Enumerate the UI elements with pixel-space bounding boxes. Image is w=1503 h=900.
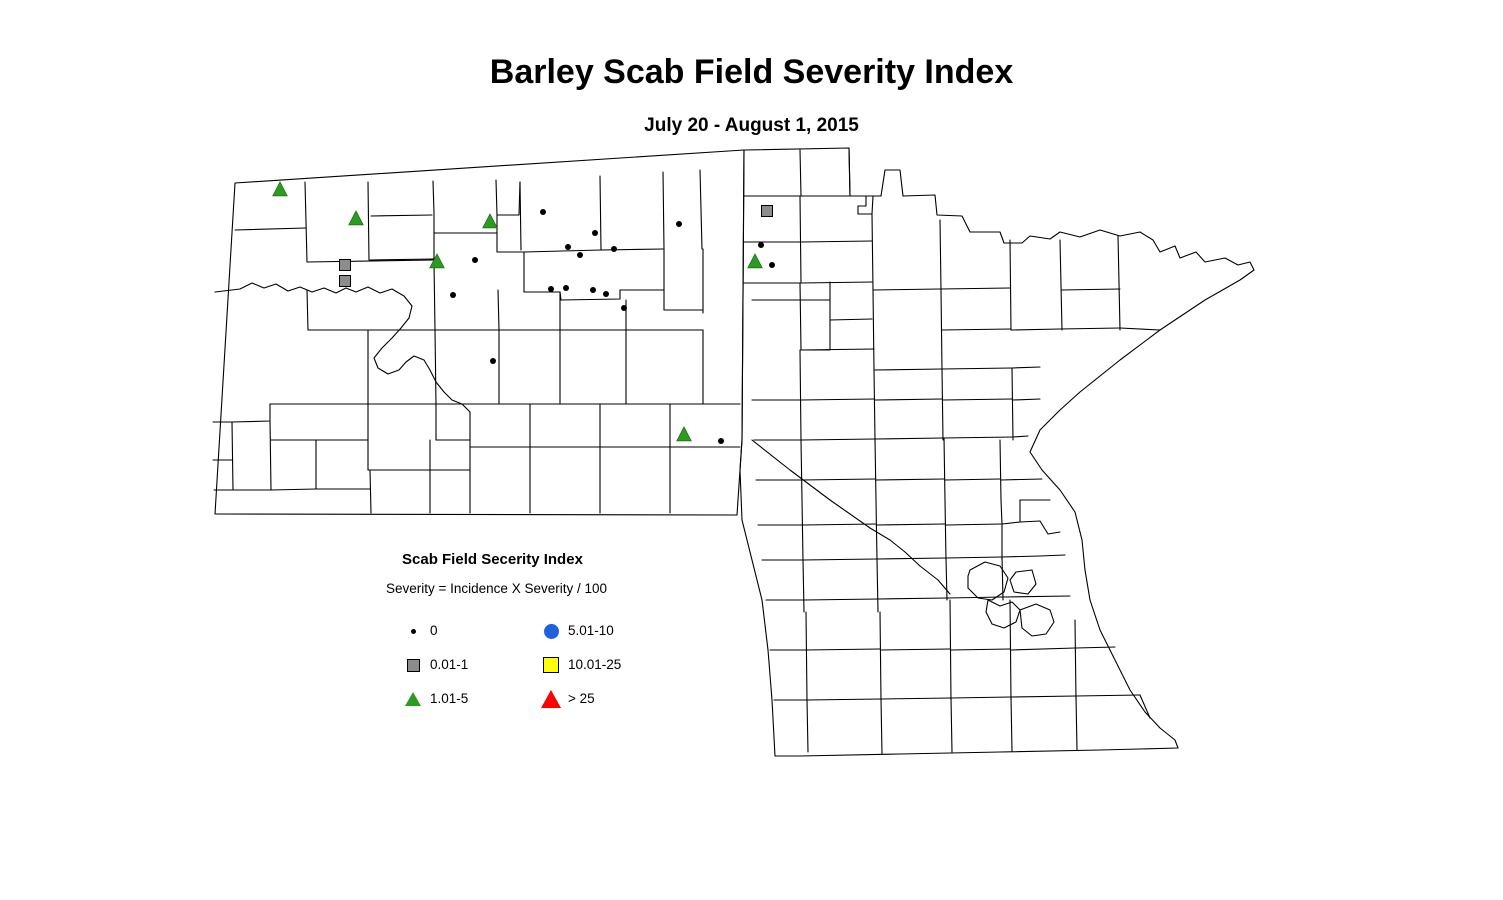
map-data-point[interactable] — [472, 257, 478, 263]
county-line — [1075, 620, 1076, 700]
county-line — [946, 524, 1001, 525]
county-line — [1011, 648, 1075, 650]
map-data-point[interactable] — [273, 182, 288, 196]
county-line — [873, 289, 940, 290]
county-line — [803, 559, 877, 560]
county-line — [804, 599, 878, 600]
county-line — [1000, 440, 1001, 500]
county-line — [433, 181, 434, 213]
county-line — [434, 262, 435, 330]
map-data-point[interactable] — [430, 254, 445, 268]
county-line — [1040, 555, 1065, 556]
legend-item-label: 5.01-10 — [568, 623, 614, 639]
circle-blue-icon — [534, 624, 568, 639]
map-data-point[interactable] — [590, 287, 596, 293]
county-line — [946, 558, 947, 600]
county-line — [1003, 596, 1070, 597]
county-line — [944, 438, 945, 500]
county-line — [1001, 479, 1042, 480]
county-line — [942, 329, 1011, 330]
map-data-point[interactable] — [621, 305, 627, 311]
county-line — [849, 148, 881, 214]
county-line — [801, 300, 872, 320]
map-data-point[interactable] — [483, 214, 498, 228]
data-points-layer — [273, 182, 775, 444]
map-data-point[interactable] — [758, 242, 764, 248]
county-line — [951, 649, 1010, 650]
legend-item-label: 10.01-25 — [568, 657, 621, 673]
county-line — [874, 369, 942, 370]
county-line — [601, 249, 663, 250]
county-line — [801, 282, 872, 283]
choropleth-map — [0, 0, 1503, 900]
county-line — [951, 697, 1011, 698]
map-data-point[interactable] — [577, 252, 583, 258]
map-legend: Scab Field Secerity Index Severity = Inc… — [386, 550, 686, 714]
map-data-point[interactable] — [450, 292, 456, 298]
legend-item-zero[interactable]: 0 — [396, 614, 468, 648]
county-line — [1012, 367, 1040, 368]
map-data-point[interactable] — [769, 262, 775, 268]
map-data-point[interactable] — [748, 254, 763, 268]
state-outline-north-dakota — [215, 150, 744, 515]
county-line — [877, 559, 878, 612]
county-line — [951, 698, 952, 752]
county-line — [496, 180, 520, 215]
square-yellow-icon — [534, 657, 568, 673]
legend-item-label: 0 — [430, 623, 438, 639]
county-line — [1012, 368, 1013, 440]
county-line — [497, 215, 524, 292]
legend-item-1-01-5[interactable]: 1.01-5 — [396, 682, 468, 716]
county-line — [1060, 240, 1062, 330]
county-line — [1118, 236, 1120, 330]
map-data-point[interactable] — [340, 276, 351, 287]
county-line — [235, 228, 306, 230]
county-line — [663, 172, 664, 249]
county-line — [878, 598, 947, 599]
county-line — [802, 479, 875, 480]
legend-title: Scab Field Secerity Index — [402, 550, 686, 570]
county-line — [873, 290, 874, 370]
county-line — [876, 500, 877, 560]
map-data-point[interactable] — [611, 246, 617, 252]
county-line — [1076, 696, 1077, 750]
legend-item-label: > 25 — [568, 691, 595, 707]
map-data-point[interactable] — [540, 209, 546, 215]
map-data-point[interactable] — [349, 211, 364, 225]
legend-item-label: 1.01-5 — [430, 691, 468, 707]
border-diagonal — [752, 440, 950, 594]
legend-item-label: 0.01-1 — [430, 657, 468, 673]
legend-item-0-01-1[interactable]: 0.01-1 — [396, 648, 468, 682]
county-line — [875, 438, 943, 439]
legend-column-right: 5.01-10 10.01-25 > 25 — [534, 614, 621, 716]
legend-item-5-01-10[interactable]: 5.01-10 — [534, 614, 621, 648]
county-line — [371, 215, 432, 216]
county-line — [800, 283, 801, 350]
triangle-green-icon — [396, 692, 430, 706]
county-line — [232, 422, 233, 490]
county-line — [801, 440, 802, 500]
county-line — [271, 489, 316, 490]
county-line — [307, 290, 308, 330]
map-data-point[interactable] — [603, 291, 609, 297]
county-line — [520, 182, 521, 250]
map-data-point[interactable] — [340, 260, 351, 271]
map-data-point[interactable] — [718, 438, 724, 444]
county-line — [806, 612, 807, 700]
county-line — [1060, 328, 1120, 329]
county-line — [802, 500, 803, 560]
county-line — [942, 368, 1012, 369]
river-missouri — [215, 283, 470, 424]
county-line — [806, 649, 880, 650]
square-grey-icon — [396, 659, 430, 672]
map-data-point[interactable] — [762, 206, 773, 217]
county-line — [874, 370, 875, 440]
county-line — [800, 196, 801, 283]
county-line — [800, 150, 801, 196]
county-line — [803, 560, 804, 612]
county-line — [1010, 240, 1011, 330]
county-line — [943, 399, 1012, 400]
county-line — [943, 437, 1013, 438]
map-data-point[interactable] — [677, 427, 692, 441]
county-line — [1002, 556, 1040, 557]
county-line — [946, 557, 1002, 558]
county-line — [945, 500, 946, 560]
legend-item-over-25[interactable]: > 25 — [534, 682, 621, 716]
county-line — [880, 612, 881, 700]
county-line — [270, 421, 271, 490]
county-line — [875, 439, 876, 500]
county-line — [1011, 697, 1012, 751]
legend-column-left: 0 0.01-1 1.01-5 — [396, 614, 468, 716]
county-line — [942, 369, 943, 440]
map-data-point[interactable] — [676, 221, 682, 227]
county-line — [801, 399, 874, 400]
map-page: Barley Scab Field Severity Index July 20… — [0, 0, 1503, 900]
county-line — [1001, 500, 1002, 524]
dot-black-icon — [396, 629, 430, 634]
county-line — [1062, 289, 1120, 290]
county-line — [872, 214, 873, 290]
map-data-point[interactable] — [565, 244, 571, 250]
map-outlines — [213, 148, 1254, 756]
county-line — [986, 600, 1020, 628]
county-line — [801, 349, 874, 350]
county-line — [881, 699, 882, 754]
county-line — [1013, 436, 1028, 437]
county-line — [807, 700, 808, 752]
map-data-point[interactable] — [592, 230, 598, 236]
triangle-red-icon — [534, 690, 568, 708]
county-line — [881, 698, 951, 699]
county-line — [801, 241, 872, 242]
county-line — [524, 250, 601, 252]
county-line — [498, 290, 499, 330]
county-line — [1011, 329, 1060, 330]
county-line — [305, 182, 307, 262]
county-line — [800, 350, 801, 440]
county-line — [368, 182, 369, 260]
state-outline-minnesota — [740, 148, 1254, 756]
map-data-point[interactable] — [563, 285, 569, 291]
legend-item-10-01-25[interactable]: 10.01-25 — [534, 648, 621, 682]
county-line — [1013, 399, 1040, 400]
county-line — [370, 470, 371, 513]
county-line — [1120, 328, 1160, 330]
county-line — [940, 220, 941, 290]
county-line — [700, 170, 702, 249]
county-line — [1020, 604, 1054, 636]
county-line — [877, 524, 945, 525]
legend-formula: Severity = Incidence X Severity / 100 — [386, 580, 686, 598]
county-line — [1002, 500, 1020, 524]
map-canvas — [0, 0, 1503, 900]
county-line — [1010, 570, 1036, 594]
county-line — [807, 699, 881, 700]
county-line — [875, 399, 942, 400]
county-line — [600, 176, 601, 250]
map-data-point[interactable] — [490, 358, 496, 364]
map-data-point[interactable] — [548, 286, 554, 292]
county-line — [1011, 696, 1076, 697]
county-line — [232, 404, 270, 422]
county-line — [801, 439, 875, 440]
county-line — [435, 330, 436, 404]
county-line — [1076, 695, 1140, 696]
county-line — [1020, 521, 1060, 534]
county-line — [945, 479, 1000, 480]
county-line — [940, 288, 1010, 289]
county-line — [801, 320, 830, 350]
county-line — [876, 479, 944, 480]
county-line — [881, 649, 950, 650]
